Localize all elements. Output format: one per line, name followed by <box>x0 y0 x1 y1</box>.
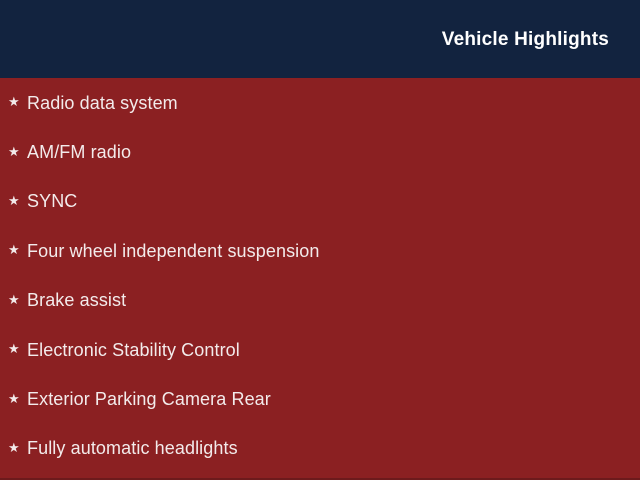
star-icon: ★ <box>8 293 27 306</box>
feature-label: Four wheel independent suspension <box>27 242 320 260</box>
vehicle-highlights-slide: Vehicle Highlights ★ Radio data system ★… <box>0 0 640 480</box>
list-item[interactable]: ★ Radio data system <box>0 78 640 127</box>
list-item[interactable]: ★ Electronic Stability Control <box>0 325 640 374</box>
list-item[interactable]: ★ Brake assist <box>0 276 640 325</box>
list-item[interactable]: ★ Exterior Parking Camera Rear <box>0 374 640 423</box>
feature-label: Brake assist <box>27 291 126 309</box>
feature-label: Exterior Parking Camera Rear <box>27 390 271 408</box>
list-item[interactable]: ★ AM/FM radio <box>0 127 640 176</box>
list-item[interactable]: ★ Fully automatic headlights <box>0 424 640 473</box>
slide-header: Vehicle Highlights <box>0 0 640 78</box>
star-icon: ★ <box>8 392 27 405</box>
page-title: Vehicle Highlights <box>442 30 609 49</box>
feature-label: Radio data system <box>27 94 178 112</box>
feature-label: Electronic Stability Control <box>27 341 240 359</box>
star-icon: ★ <box>8 441 27 454</box>
feature-label: AM/FM radio <box>27 143 131 161</box>
feature-label: SYNC <box>27 192 77 210</box>
list-item[interactable]: ★ Four wheel independent suspension <box>0 226 640 275</box>
slide-body: ★ Radio data system ★ AM/FM radio ★ SYNC… <box>0 78 640 480</box>
star-icon: ★ <box>8 342 27 355</box>
vehicle-feature-list: ★ Radio data system ★ AM/FM radio ★ SYNC… <box>0 78 640 473</box>
star-icon: ★ <box>8 194 27 207</box>
list-item[interactable]: ★ SYNC <box>0 177 640 226</box>
star-icon: ★ <box>8 95 27 108</box>
star-icon: ★ <box>8 145 27 158</box>
star-icon: ★ <box>8 243 27 256</box>
feature-label: Fully automatic headlights <box>27 439 238 457</box>
